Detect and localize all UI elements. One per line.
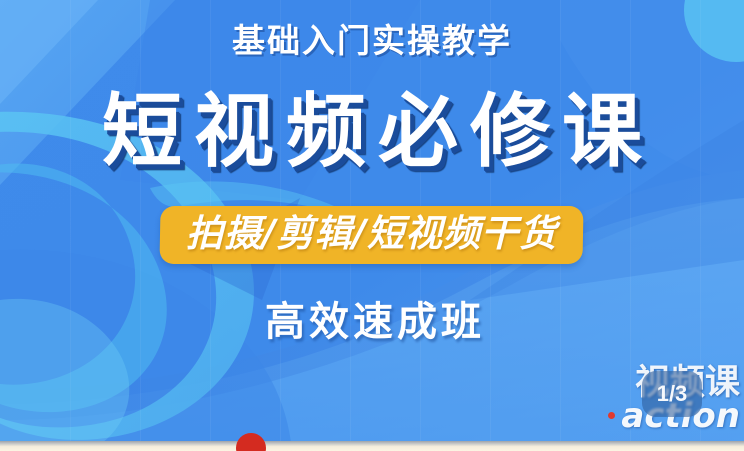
highlight-band-label: 拍摄/剪辑/短视频干货 xyxy=(187,213,558,254)
highlight-band-wrapper: 拍摄/剪辑/短视频干货 xyxy=(0,206,744,264)
bottom-subtitle: 高效速成班 xyxy=(0,300,744,344)
poster-image: 基础入门实操教学 短视频必修课 拍摄/剪辑/短视频干货 高效速成班 视频课 ac… xyxy=(0,0,744,451)
bottom-strip xyxy=(0,441,744,451)
page-title: 短视频必修课 xyxy=(0,92,744,172)
page-counter-label: 1/3 xyxy=(657,381,688,407)
page-counter-badge[interactable]: 1/3 xyxy=(642,371,702,417)
top-subtitle: 基础入门实操教学 xyxy=(0,22,744,60)
highlight-band: 拍摄/剪辑/短视频干货 xyxy=(160,206,584,264)
poster-content: 基础入门实操教学 短视频必修课 拍摄/剪辑/短视频干货 高效速成班 xyxy=(0,0,744,451)
